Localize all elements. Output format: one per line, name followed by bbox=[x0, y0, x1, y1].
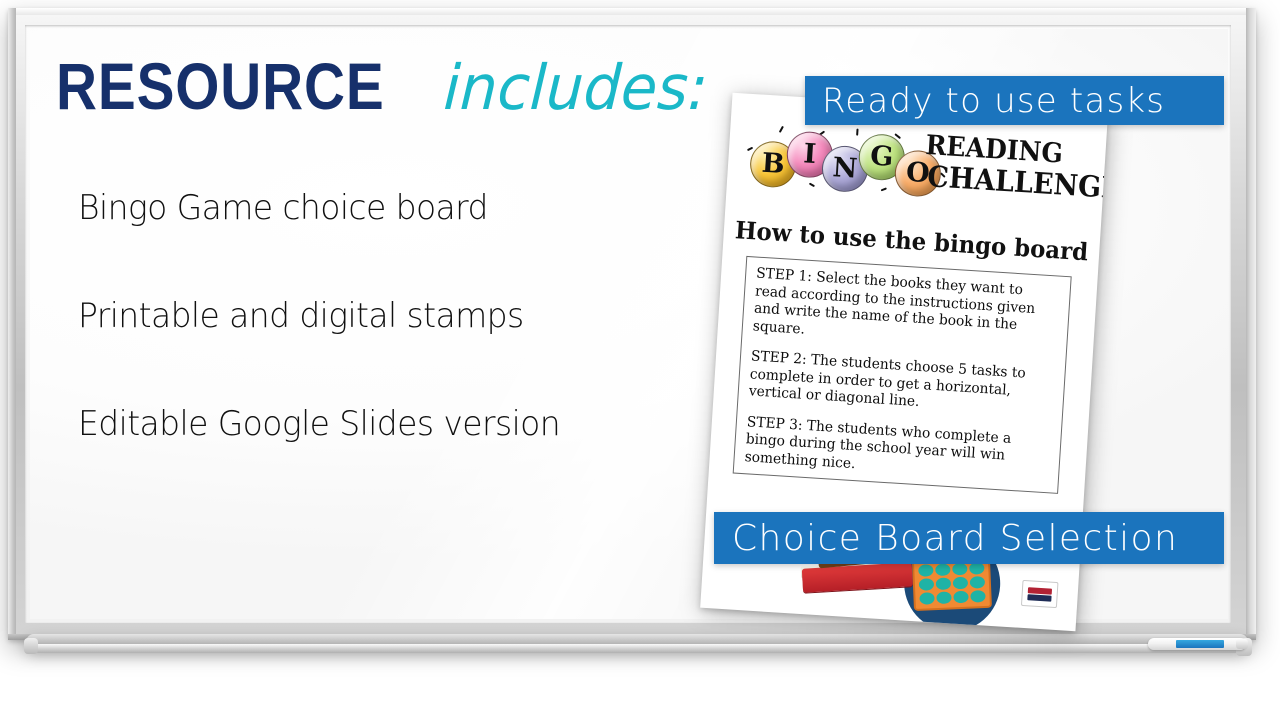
frame-left-edge bbox=[8, 8, 16, 640]
card-title: READING CHALLENGE bbox=[923, 131, 1103, 202]
bingo-spark bbox=[881, 187, 887, 191]
bingo-ball-letter: I bbox=[803, 138, 818, 170]
publisher-logo bbox=[1021, 580, 1059, 608]
frame-right-edge bbox=[1246, 8, 1256, 640]
bingo-spark bbox=[809, 183, 815, 188]
publisher-logo-bar-bottom bbox=[1027, 594, 1051, 601]
bingo-ball-letter: G bbox=[869, 140, 894, 172]
page-title: RESOURCEincludes: bbox=[56, 48, 722, 124]
publisher-logo-bar-top bbox=[1028, 587, 1052, 594]
list-item: Printable and digital stamps bbox=[78, 296, 679, 336]
frame-top-edge bbox=[8, 8, 1256, 15]
page-title-script: includes: bbox=[442, 51, 710, 124]
card-step: STEP 3: The students who complete a bing… bbox=[744, 414, 1042, 485]
slide-canvas: RESOURCEincludes: Bingo Game choice boar… bbox=[0, 0, 1280, 720]
list-item: Editable Google Slides version bbox=[78, 404, 679, 444]
marker-tip bbox=[1236, 639, 1248, 649]
bingo-ball-letter: N bbox=[832, 152, 859, 184]
card-steps-box: STEP 1: Select the books they want to re… bbox=[733, 256, 1072, 494]
bingo-spark bbox=[856, 129, 858, 136]
list-item: Bingo Game choice board bbox=[78, 188, 679, 228]
marker-label bbox=[1176, 640, 1224, 648]
bingo-spark bbox=[779, 126, 784, 133]
bingo-spark bbox=[747, 147, 753, 151]
card-title-line2: CHALLENGE bbox=[926, 161, 1101, 202]
pen-tray-lip bbox=[34, 644, 1240, 653]
feature-list: Bingo Game choice board Printable and di… bbox=[78, 188, 698, 512]
page-title-strong: RESOURCE bbox=[56, 48, 385, 124]
banner-ready-to-use-tasks: Ready to use tasks bbox=[805, 76, 1224, 125]
bingo-logo: B I N G O bbox=[749, 124, 952, 196]
card-step: STEP 1: Select the books they want to re… bbox=[752, 266, 1051, 354]
pen-tray-cap-left bbox=[24, 638, 38, 654]
bingo-ball-letter: B bbox=[761, 147, 786, 179]
card-step: STEP 2: The students choose 5 tasks to c… bbox=[748, 348, 1046, 419]
banner-choice-board-selection: Choice Board Selection bbox=[714, 512, 1224, 564]
